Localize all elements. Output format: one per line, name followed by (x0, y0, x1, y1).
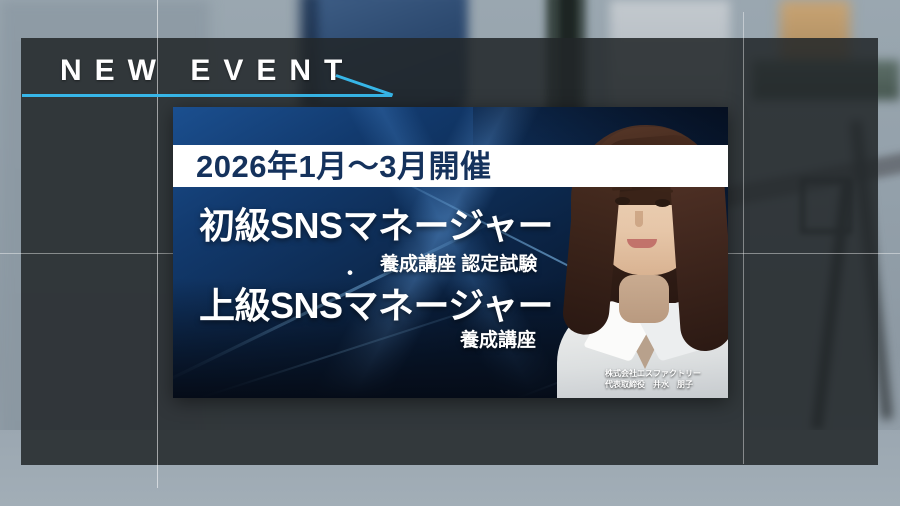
course-subtitle-secondary: 養成講座 (460, 329, 536, 352)
page-title: NEW EVENT (60, 52, 355, 90)
course-title-primary: 初級SNSマネージャー (199, 205, 553, 247)
date-band-text: 2026年1月〜3月開催 (196, 149, 491, 184)
portrait-nose (635, 211, 643, 227)
presenter-company: 株式会社エスファクトリー (605, 368, 701, 379)
accent-line-horizontal (22, 94, 392, 97)
portrait-eye-right (655, 199, 670, 207)
screenshot-root: NEW EVENT (0, 0, 900, 506)
presenter-name: 代表取締役 井水 朋子 (605, 379, 701, 390)
guide-line-vertical-right (743, 12, 744, 464)
course-title-secondary: 上級SNSマネージャー (199, 285, 553, 327)
event-card[interactable]: 2026年1月〜3月開催 初級SNSマネージャー 養成講座 認定試験 ・ 上級S… (173, 107, 728, 398)
course-subtitle-primary: 養成講座 認定試験 (380, 253, 537, 276)
presenter-credit: 株式会社エスファクトリー 代表取締役 井水 朋子 (605, 368, 701, 390)
portrait-neck (619, 275, 669, 323)
title-separator: ・ (339, 263, 361, 285)
portrait-mouth (627, 239, 657, 248)
portrait-eye-left (615, 197, 630, 205)
